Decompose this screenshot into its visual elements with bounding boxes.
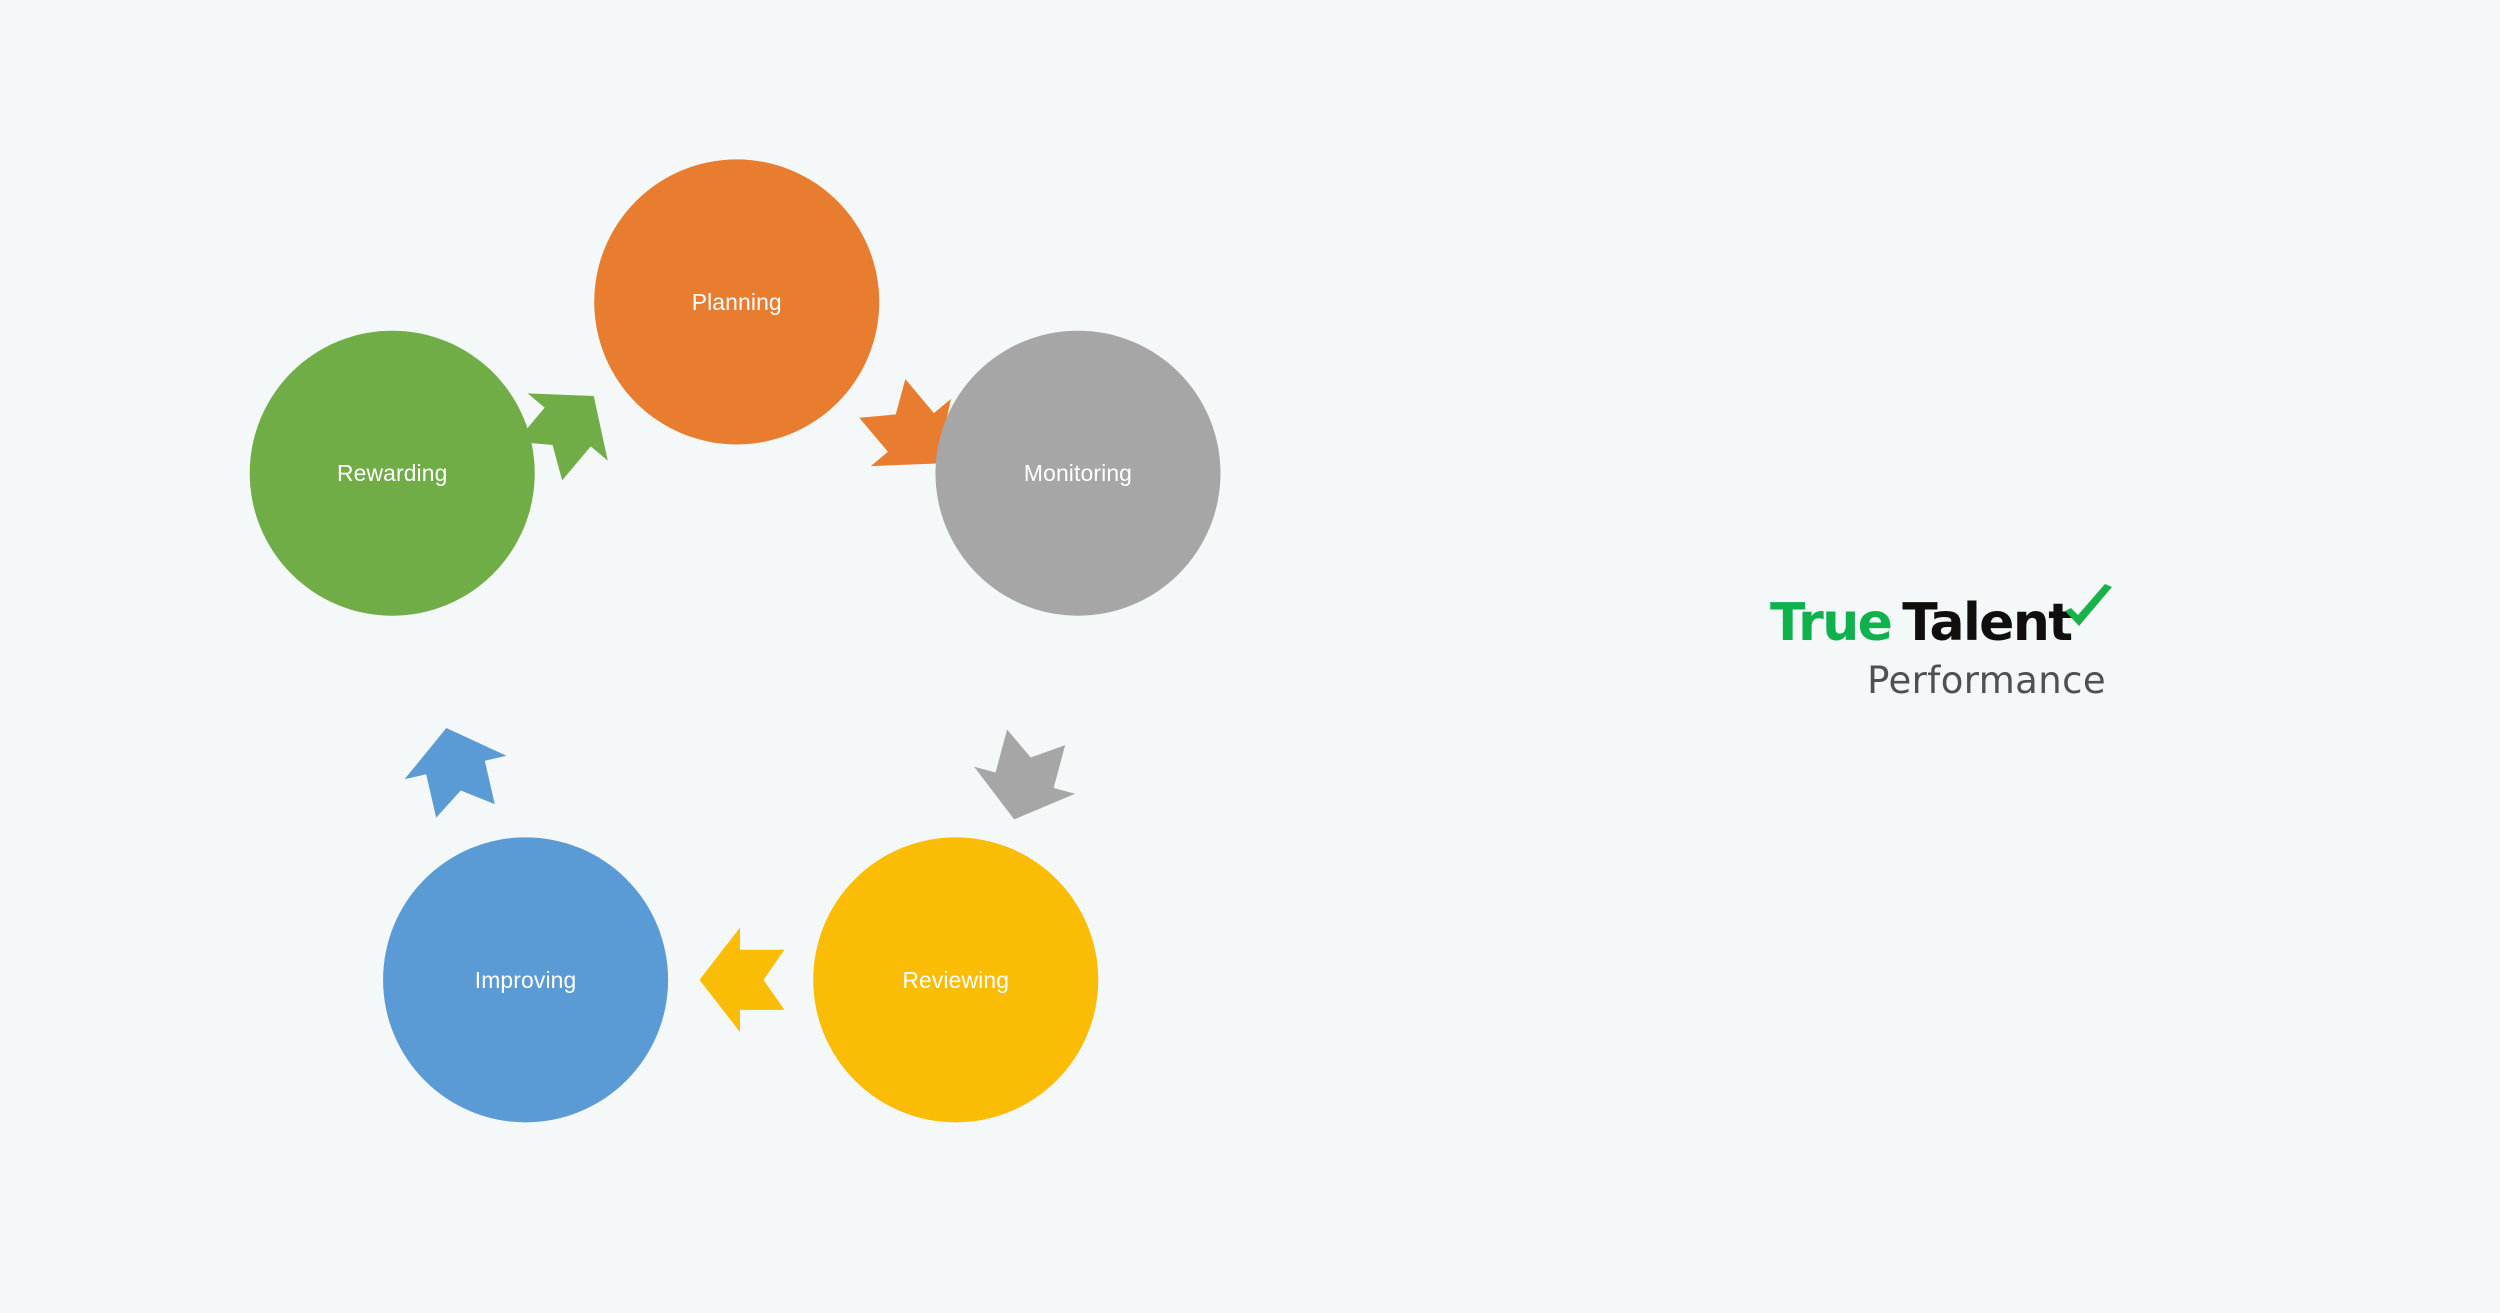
monitoring-label: Monitoring: [1024, 460, 1132, 486]
logo-wordmark: TrueTalent: [1770, 592, 2110, 654]
improving-label: Improving: [475, 967, 577, 993]
reviewing-label: Reviewing: [902, 967, 1009, 993]
cycle-svg-canvas: Planning Monitoring Reviewing Improving …: [230, 130, 1250, 1140]
arrow-monitoring-to-reviewing: [964, 724, 1087, 833]
logo-word-talent: Talent: [1902, 593, 2071, 653]
brand-logo: TrueTalent Performance: [1770, 592, 2110, 712]
cycle-node-planning[interactable]: Planning: [594, 159, 879, 444]
arrow-improving-to-rewarding: [395, 716, 516, 822]
logo-word-true: True: [1770, 593, 1891, 653]
performance-cycle-diagram: Planning Monitoring Reviewing Improving …: [230, 130, 1250, 1140]
cycle-node-improving[interactable]: Improving: [383, 837, 668, 1122]
arrow-reviewing-to-improving: [699, 928, 784, 1033]
cycle-node-monitoring[interactable]: Monitoring: [935, 331, 1220, 616]
page-canvas: Planning Monitoring Reviewing Improving …: [0, 0, 2500, 1313]
cycle-node-rewarding[interactable]: Rewarding: [250, 331, 535, 616]
logo-tagline: Performance: [1770, 659, 2110, 702]
planning-label: Planning: [692, 289, 782, 315]
cycle-node-reviewing[interactable]: Reviewing: [813, 837, 1098, 1122]
rewarding-label: Rewarding: [337, 460, 448, 486]
